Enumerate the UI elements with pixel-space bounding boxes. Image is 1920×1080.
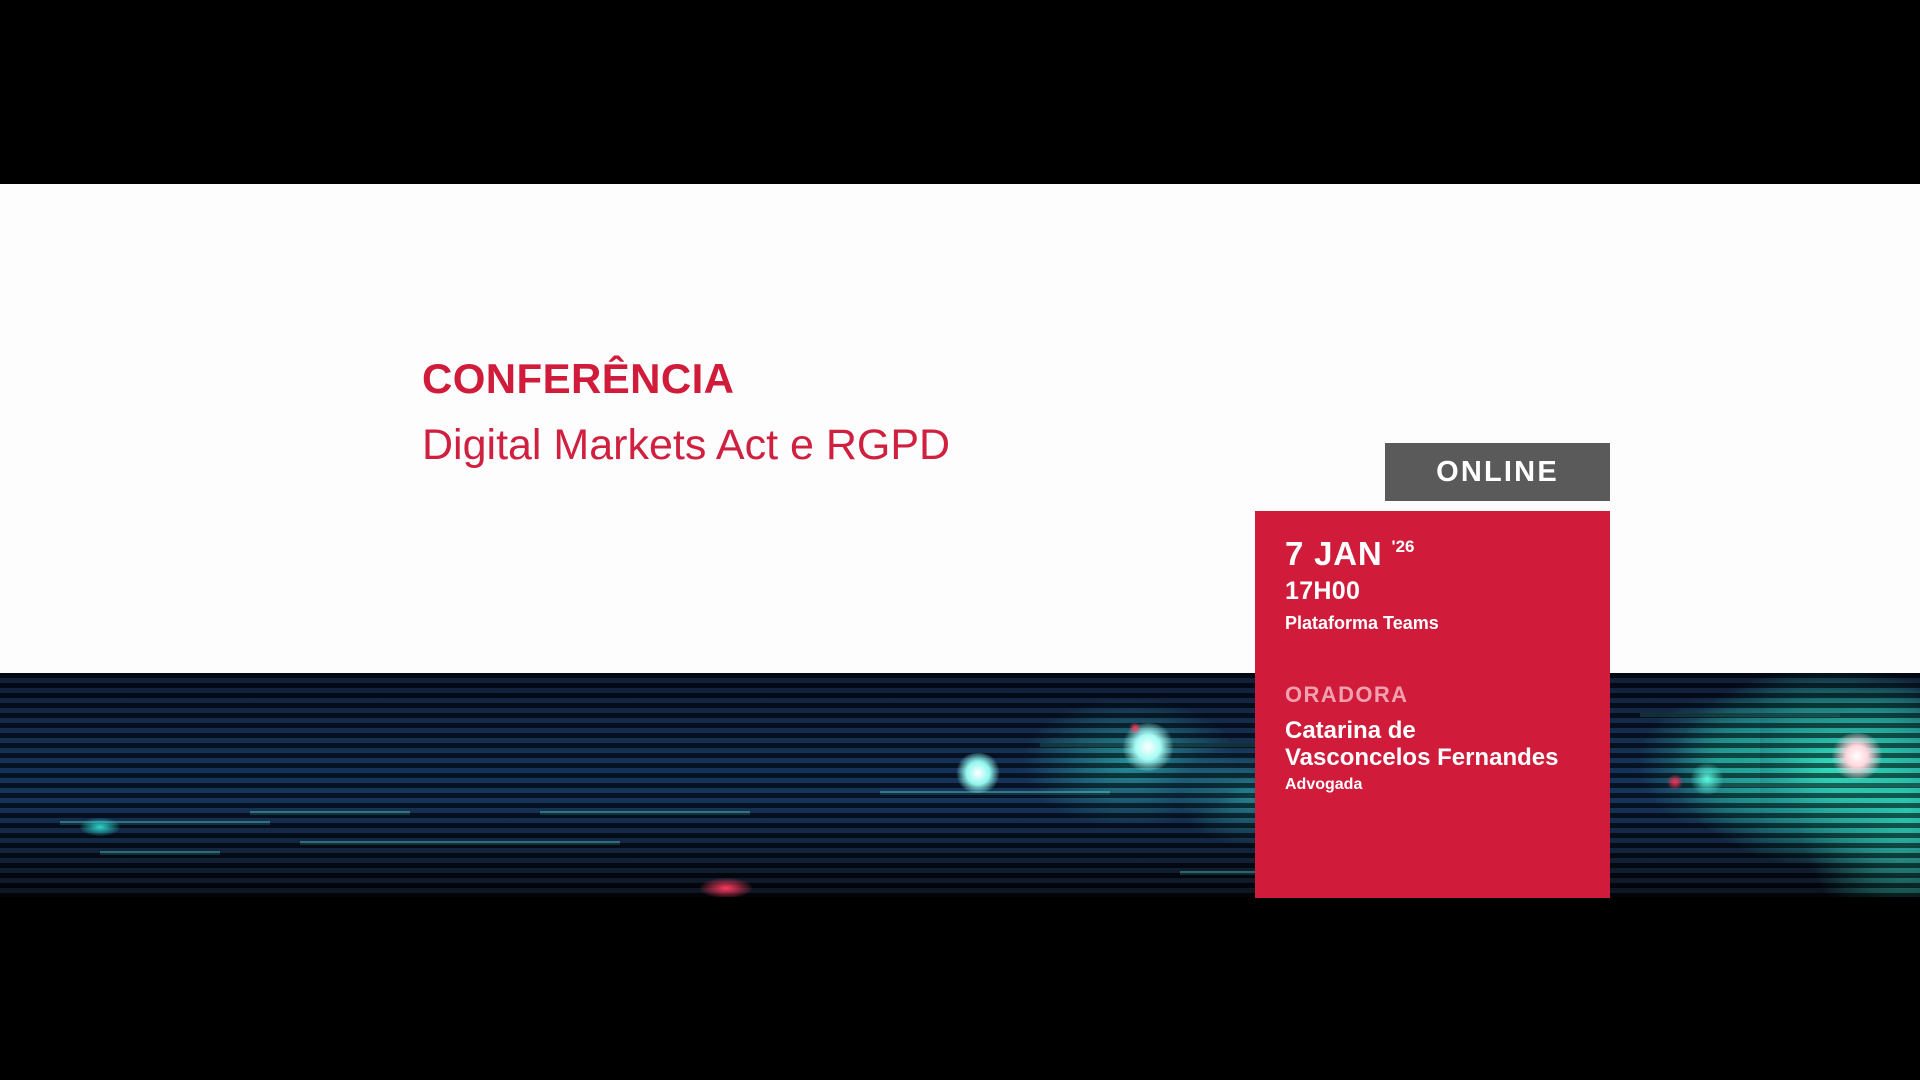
event-type-label: CONFERÊNCIA [422, 358, 1242, 400]
headline-block: CONFERÊNCIA Digital Markets Act e RGPD [422, 358, 1242, 469]
letterbox-bar-top [0, 0, 1920, 184]
event-date: 7 JAN [1285, 537, 1383, 570]
scanline-overlay [0, 673, 1920, 897]
event-info-panel: 7 JAN '26 17H00 Plataforma Teams ORADORA… [1255, 511, 1610, 898]
event-platform: Plataforma Teams [1285, 614, 1584, 632]
speaker-name: Catarina de Vasconcelos Fernandes [1285, 718, 1565, 772]
status-badge-online: ONLINE [1385, 443, 1610, 501]
event-time: 17H00 [1285, 579, 1584, 604]
glitch-scanline-artwork [0, 673, 1920, 897]
speaker-section-label: ORADORA [1285, 684, 1584, 706]
banner-stage: CONFERÊNCIA Digital Markets Act e RGPD O… [0, 0, 1920, 1080]
event-date-row: 7 JAN '26 [1285, 537, 1584, 570]
status-badge-label: ONLINE [1436, 456, 1559, 489]
speaker-role: Advogada [1285, 777, 1584, 793]
page-title: Digital Markets Act e RGPD [422, 422, 1242, 469]
letterbox-bar-bottom [0, 897, 1920, 1080]
event-year: '26 [1392, 538, 1415, 555]
